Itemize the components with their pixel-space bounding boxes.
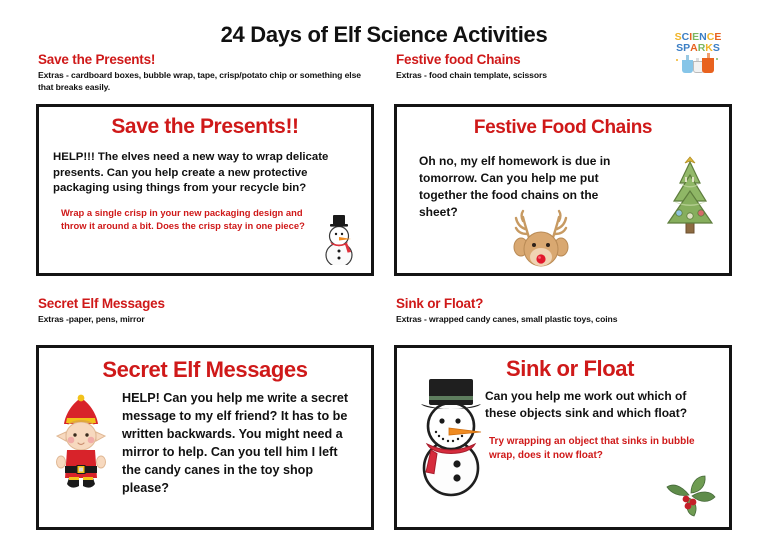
section-extras-sink-or-float: Extras - wrapped candy canes, small plas… (396, 314, 726, 326)
card-note: Try wrapping an object that sinks in bub… (489, 435, 711, 463)
section-extras-secret-elf-messages: Extras -paper, pens, mirror (38, 314, 368, 326)
card-note: Wrap a single crisp in your new packagin… (61, 206, 311, 232)
card-body: HELP!!! The elves need a new way to wrap… (53, 150, 347, 197)
activity-card-secret-elf-messages: Secret Elf Messages HELP! Can you help m… (36, 345, 374, 530)
snowman-icon (401, 374, 501, 498)
card-title: Secret Elf Messages (39, 357, 371, 383)
card-title: Save the Presents!! (39, 115, 371, 139)
section-extras-festive-food-chains: Extras - food chain template, scissors (396, 70, 726, 82)
holly-icon (661, 473, 719, 519)
snowman-icon (317, 209, 361, 265)
section-extras-save-the-presents: Extras - cardboard boxes, bubble wrap, t… (38, 70, 368, 93)
elf-icon (47, 392, 115, 492)
activity-card-sink-or-float: Sink or Float Can you help me work out w… (394, 345, 732, 530)
card-title: Festive Food Chains (397, 117, 729, 139)
activity-card-festive-food-chains: Festive Food Chains Oh no, my elf homewo… (394, 104, 732, 276)
section-heading-festive-food-chains: Festive food Chains (396, 52, 520, 67)
christmas-tree-icon (659, 153, 721, 237)
reindeer-icon (505, 207, 577, 269)
activity-card-save-the-presents: Save the Presents!! HELP!!! The elves ne… (36, 104, 374, 276)
section-heading-save-the-presents: Save the Presents! (38, 52, 155, 67)
page-title: 24 Days of Elf Science Activities (0, 22, 768, 48)
logo-line-sparks: SPARKS (668, 43, 728, 54)
card-body: HELP! Can you help me write a secret mes… (122, 389, 359, 497)
section-heading-sink-or-float: Sink or Float? (396, 296, 483, 311)
section-heading-secret-elf-messages: Secret Elf Messages (38, 296, 165, 311)
card-body: Can you help me work out which of these … (485, 388, 711, 421)
